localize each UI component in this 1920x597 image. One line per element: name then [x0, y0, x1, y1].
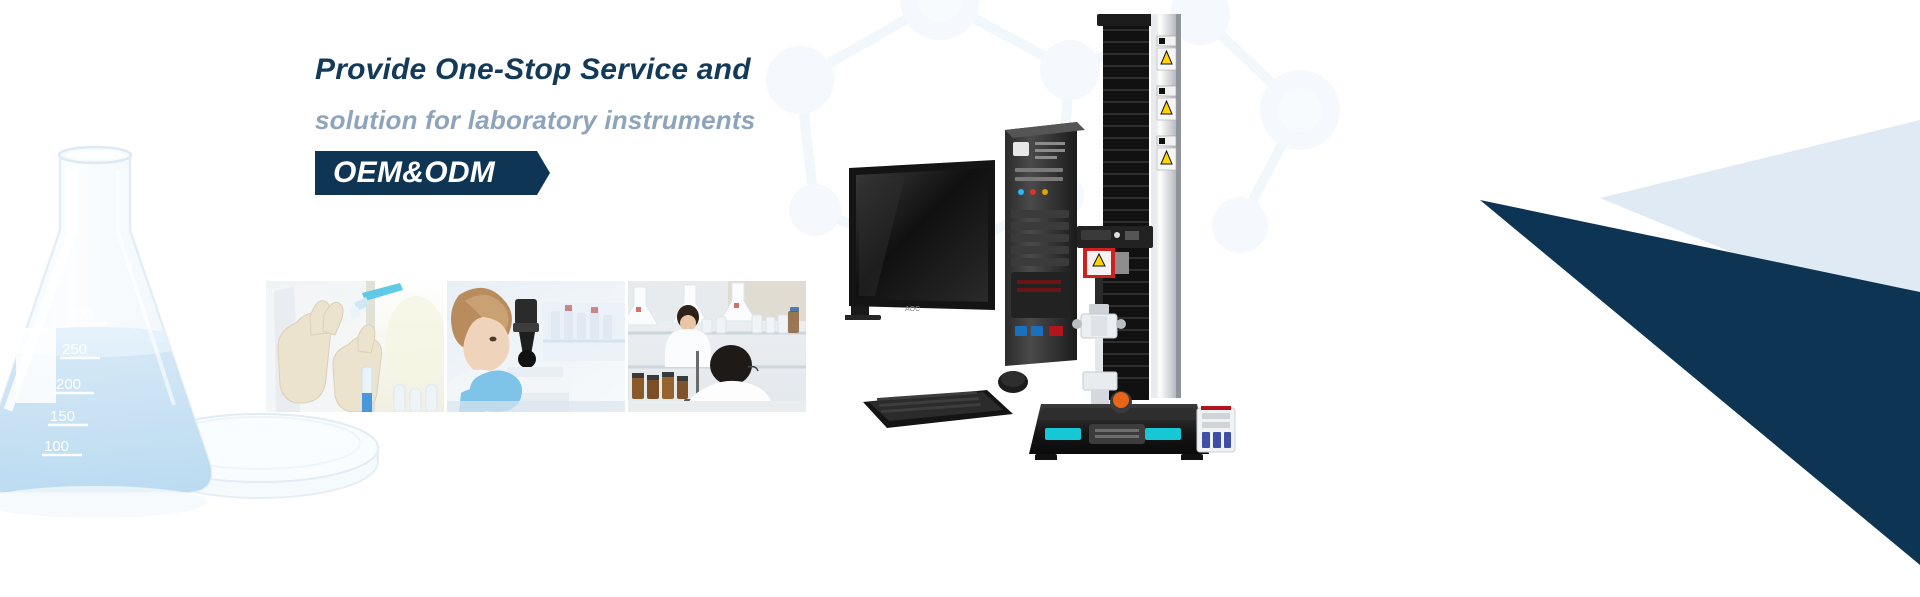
flask-grad-200: 200	[56, 376, 81, 393]
photo-microscope	[447, 281, 625, 412]
photo-pipetting	[266, 281, 444, 412]
headline-block: Provide One-Stop Service and solution fo…	[315, 55, 935, 195]
flask-grad-250: 250	[62, 341, 87, 358]
flask-grad-150: 150	[50, 408, 75, 425]
lcd-monitor-icon: AOC	[845, 160, 995, 320]
svg-text:AOC: AOC	[905, 306, 920, 313]
flask-grad-100: 100	[44, 438, 69, 455]
desktop-pc-tower-icon	[1005, 122, 1085, 366]
warning-triangle-label	[1157, 36, 1176, 170]
photo-lab-bench	[628, 281, 806, 412]
flask-unit-label: mL	[8, 340, 28, 356]
headline-line-2: solution for laboratory instruments	[315, 107, 935, 133]
keyboard-icon	[863, 390, 1013, 428]
photo-strip	[266, 281, 806, 412]
badge-label: OEM&ODM	[333, 158, 495, 188]
corner-graphics	[1180, 0, 1920, 597]
hero-banner: 300 250 200 150 100 mL Provide One-Stop …	[0, 0, 1920, 597]
flask-grad-300: 300	[68, 306, 93, 323]
oem-odm-badge: OEM&ODM	[315, 151, 550, 195]
erlenmeyer-flask-icon: 300 250 200 150 100 mL	[0, 147, 240, 518]
mouse-icon	[998, 371, 1028, 393]
headline-line-1: Provide One-Stop Service and	[315, 55, 935, 85]
